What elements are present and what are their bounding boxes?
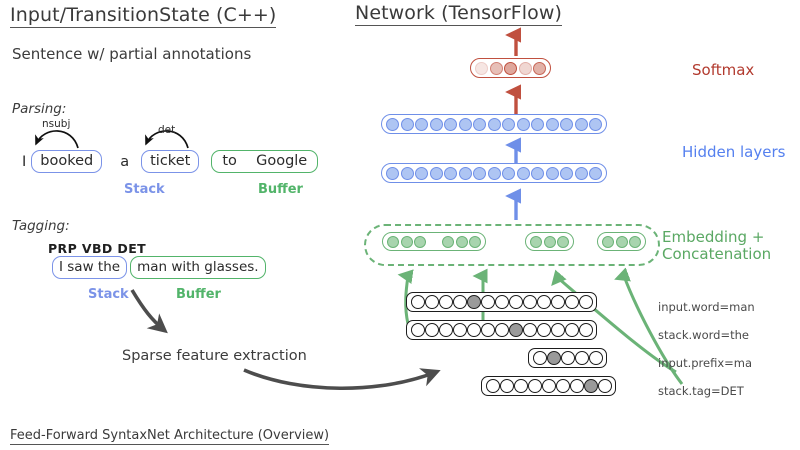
feature-label-4: stack.tag=DET <box>658 384 744 398</box>
tagging-stack-box[interactable]: I saw the <box>52 256 127 279</box>
hidden-node <box>459 167 472 180</box>
feature-cell-active <box>547 351 561 365</box>
feature-cell <box>500 379 514 393</box>
embedding-node <box>544 236 556 248</box>
feature-cell <box>565 323 579 337</box>
embedding-node <box>629 236 641 248</box>
feature-cell <box>561 351 575 365</box>
embedding-strip-3 <box>597 232 646 251</box>
embedding-node <box>530 236 542 248</box>
hidden-node <box>473 118 486 131</box>
feature-label-2: stack.word=the <box>658 328 749 342</box>
feature-cell <box>425 295 439 309</box>
feature-label-3: input.prefix=ma <box>658 356 752 370</box>
hidden-node <box>560 118 573 131</box>
feature-cell <box>439 323 453 337</box>
embedding-node <box>442 236 454 248</box>
hidden-node <box>444 118 457 131</box>
left-panel-title: Input/TransitionState (C++) <box>10 4 276 28</box>
hidden-node <box>589 118 602 131</box>
feature-cell <box>579 295 593 309</box>
feature-row-4 <box>481 376 616 396</box>
softmax-node <box>490 62 503 75</box>
parsing-ticket-box[interactable]: ticket <box>141 150 199 173</box>
hidden-node <box>444 167 457 180</box>
feature-cell <box>542 379 556 393</box>
feature-cell <box>537 295 551 309</box>
hidden-node <box>401 118 414 131</box>
feature-row-2 <box>406 320 597 340</box>
hidden-layers-label: Hidden layers <box>682 144 785 161</box>
feature-cell <box>523 323 537 337</box>
tagging-buffer-box[interactable]: man with glasses. <box>130 256 266 279</box>
feature-cell <box>509 295 523 309</box>
hidden-node <box>546 118 559 131</box>
hidden-node <box>517 167 530 180</box>
tagging-heading: Tagging: <box>12 215 70 234</box>
arrow-embedding-to-hidden1 <box>508 188 528 224</box>
hidden-node <box>386 118 399 131</box>
tagging-sentence-row: I saw the man with glasses. <box>52 256 266 279</box>
footer-caption: Feed-Forward SyntaxNet Architecture (Ove… <box>10 424 329 445</box>
parsing-stack-label: Stack <box>124 178 165 197</box>
token-to: to <box>222 153 237 169</box>
feature-cell-active <box>584 379 598 393</box>
feature-cell-active <box>467 295 481 309</box>
feature-cell <box>537 323 551 337</box>
hidden-node <box>531 167 544 180</box>
embedding-node <box>469 236 481 248</box>
hidden-node <box>488 167 501 180</box>
feature-cell <box>495 295 509 309</box>
diagram-root: Input/TransitionState (C++) Sentence w/ … <box>0 0 800 450</box>
feature-cell <box>453 295 467 309</box>
hidden-node <box>531 118 544 131</box>
feature-cell <box>453 323 467 337</box>
token-a: a <box>120 154 129 170</box>
embedding-node <box>456 236 468 248</box>
parsing-buffer-box[interactable]: to Google <box>211 150 318 173</box>
right-panel-title: Network (TensorFlow) <box>355 2 562 26</box>
feature-cell <box>556 379 570 393</box>
embedding-label: Embedding + Concatenation <box>662 229 771 264</box>
softmax-node <box>504 62 517 75</box>
feature-cell <box>575 351 589 365</box>
softmax-label: Softmax <box>692 62 754 79</box>
hidden-node <box>589 167 602 180</box>
spacer <box>428 241 441 242</box>
embedding-label-line2: Concatenation <box>662 246 771 263</box>
feature-cell <box>551 323 565 337</box>
embedding-node <box>557 236 569 248</box>
feature-cell <box>486 379 500 393</box>
arc-label-nsubj: nsubj <box>42 112 70 131</box>
embedding-node <box>602 236 614 248</box>
feature-row-3 <box>528 348 607 368</box>
feature-cell <box>425 323 439 337</box>
feature-cell-active <box>509 323 523 337</box>
hidden-node <box>473 167 486 180</box>
hidden-node <box>575 167 588 180</box>
hidden-layer-1 <box>381 163 607 183</box>
hidden-node <box>575 118 588 131</box>
softmax-node <box>519 62 532 75</box>
feature-cell <box>579 323 593 337</box>
softmax-layer <box>470 58 551 78</box>
parsing-stack-box[interactable]: booked <box>31 150 102 173</box>
feature-cell <box>528 379 542 393</box>
embedding-node <box>401 236 413 248</box>
arrow-hidden2-to-softmax <box>508 84 528 116</box>
hidden-node <box>415 118 428 131</box>
embedding-node <box>387 236 399 248</box>
feature-cell <box>514 379 528 393</box>
hidden-node <box>502 167 515 180</box>
feature-cell <box>481 323 495 337</box>
hidden-node <box>517 118 530 131</box>
feature-cell <box>481 295 495 309</box>
feature-cell <box>551 295 565 309</box>
hidden-node <box>488 118 501 131</box>
hidden-layer-2 <box>381 114 607 134</box>
embedding-node <box>616 236 628 248</box>
hidden-node <box>502 118 515 131</box>
left-panel-subtitle: Sentence w/ partial annotations <box>12 44 251 63</box>
feature-cell <box>565 295 579 309</box>
tagging-tags: PRP VBD DET <box>48 238 146 257</box>
softmax-node <box>533 62 546 75</box>
token-google: Google <box>256 153 307 169</box>
feature-cell <box>467 323 481 337</box>
feature-cell <box>523 295 537 309</box>
feature-cell <box>589 351 603 365</box>
softmax-node <box>475 62 488 75</box>
hidden-node <box>430 167 443 180</box>
parsing-buffer-label: Buffer <box>258 178 303 197</box>
feature-cell <box>533 351 547 365</box>
hidden-node <box>546 167 559 180</box>
hidden-node <box>560 167 573 180</box>
embedding-label-line1: Embedding + <box>662 229 771 246</box>
arrow-to-sparse-extraction <box>130 288 200 346</box>
parsing-sentence-row: I booked a ticket to Google <box>22 150 318 173</box>
hidden-node <box>386 167 399 180</box>
arrow-softmax-out <box>508 28 528 58</box>
feature-cell <box>411 295 425 309</box>
feature-label-1: input.word=man <box>658 300 755 314</box>
feature-cell <box>495 323 509 337</box>
token-i: I <box>22 154 26 170</box>
embedding-strip-2 <box>525 232 574 251</box>
feature-cell <box>570 379 584 393</box>
hidden-node <box>401 167 414 180</box>
hidden-node <box>415 167 428 180</box>
arc-label-det: det <box>158 118 175 137</box>
embedding-strip-1 <box>382 232 486 251</box>
feature-cell <box>598 379 612 393</box>
feature-row-1 <box>406 292 597 312</box>
tagging-stack-label: Stack <box>88 283 129 302</box>
embedding-node <box>414 236 426 248</box>
hidden-node <box>430 118 443 131</box>
hidden-node <box>459 118 472 131</box>
feature-cell <box>411 323 425 337</box>
feature-cell <box>439 295 453 309</box>
